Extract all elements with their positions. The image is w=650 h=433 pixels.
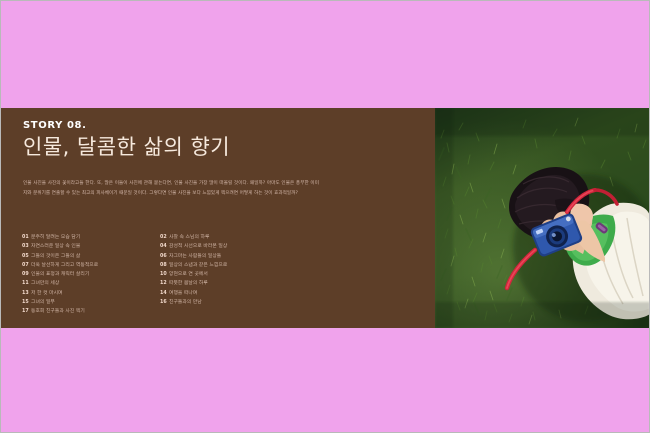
list-item-number: 08 xyxy=(160,263,169,268)
list-item-number: 06 xyxy=(160,254,169,259)
page-root: STORY 08. 인물, 달콤한 삶의 향기 인물 사진을 사진의 꽃이라고들… xyxy=(0,0,650,433)
list-item-number: 14 xyxy=(160,291,169,296)
contents-list: 01 분주히 달려는 모습 담기 03 자연스러운 일상 속 인물 05 그들의… xyxy=(22,233,322,317)
list-item[interactable]: 09 인물의 표정과 캐릭터 살리기 xyxy=(22,270,142,279)
list-item[interactable]: 06 자그마는 사람들의 일상들 xyxy=(160,252,280,261)
intro-paragraph: 인물 사진을 사진의 꽃이라고들 한다. 또, 많은 이들이 사진에 관해 묻는… xyxy=(23,179,319,198)
list-item[interactable]: 15 그녀의 일부 xyxy=(22,298,142,307)
list-item-number: 10 xyxy=(160,272,169,277)
list-item[interactable]: 05 그들의 것이은 그들의 삶 xyxy=(22,252,142,261)
story-label: STORY 08. xyxy=(23,120,87,132)
list-item[interactable]: 07 더욱 날선하게 그리고 역동적으로 xyxy=(22,261,142,270)
list-item-label: 친구들과의 만남 xyxy=(169,298,202,305)
list-item[interactable]: 04 감성적 시선으로 바라본 일상 xyxy=(160,242,280,251)
list-item-label: 자연스러운 일상 속 인물 xyxy=(31,242,80,249)
list-item-number: 17 xyxy=(22,309,31,314)
list-item[interactable]: 11 그녀만의 세상 xyxy=(22,279,142,288)
list-item-number: 12 xyxy=(160,281,169,286)
list-item[interactable]: 14 여행을 떠나며 xyxy=(160,289,280,298)
photo-illustration xyxy=(435,108,650,328)
list-item-label: 동호회 친구들과 사진 찍기 xyxy=(31,307,85,314)
list-item-label: 인물의 표정과 캐릭터 살리기 xyxy=(31,270,89,277)
list-item-number: 05 xyxy=(22,254,31,259)
list-item-label: 사찰 속 스님의 하루 xyxy=(169,233,209,240)
list-item-number: 11 xyxy=(22,281,31,286)
list-item-label: 일상의 스냅과 같은 느낌으로 xyxy=(169,261,227,268)
list-item-label: 저 한 컷 마시며 xyxy=(31,289,63,296)
list-item[interactable]: 16 친구들과의 만남 xyxy=(160,298,280,307)
contents-column-right: 02 사찰 속 스님의 하루 04 감성적 시선으로 바라본 일상 06 자그마… xyxy=(160,233,280,317)
list-item[interactable]: 03 자연스러운 일상 속 인물 xyxy=(22,242,142,251)
list-item[interactable]: 01 분주히 달려는 모습 담기 xyxy=(22,233,142,242)
story-photo xyxy=(435,108,650,328)
list-item-number: 02 xyxy=(160,235,169,240)
list-item-number: 07 xyxy=(22,263,31,268)
list-item[interactable]: 13 저 한 컷 마시며 xyxy=(22,289,142,298)
list-item-label: 자그마는 사람들의 일상들 xyxy=(169,252,221,259)
list-item[interactable]: 12 따뜻한 봄날의 하루 xyxy=(160,279,280,288)
list-item-number: 03 xyxy=(22,244,31,249)
list-item-label: 그녀의 일부 xyxy=(31,298,55,305)
list-item-number: 15 xyxy=(22,300,31,305)
list-item[interactable]: 17 동호회 친구들과 사진 찍기 xyxy=(22,307,142,316)
list-item[interactable]: 08 일상의 스냅과 같은 느낌으로 xyxy=(160,261,280,270)
list-item-label: 따뜻한 봄날의 하루 xyxy=(169,279,208,286)
list-item-label: 더욱 날선하게 그리고 역동적으로 xyxy=(31,261,98,268)
list-item-label: 그들의 것이은 그들의 삶 xyxy=(31,252,80,259)
list-item-number: 09 xyxy=(22,272,31,277)
list-item-label: 앙현으로 연 곳에서 xyxy=(169,270,208,277)
page-title: 인물, 달콤한 삶의 향기 xyxy=(23,133,230,161)
list-item-number: 01 xyxy=(22,235,31,240)
list-item[interactable]: 10 앙현으로 연 곳에서 xyxy=(160,270,280,279)
list-item-label: 감성적 시선으로 바라본 일상 xyxy=(169,242,227,249)
contents-column-left: 01 분주히 달려는 모습 담기 03 자연스러운 일상 속 인물 05 그들의… xyxy=(22,233,142,317)
list-item[interactable]: 02 사찰 속 스님의 하루 xyxy=(160,233,280,242)
list-item-number: 04 xyxy=(160,244,169,249)
list-item-number: 13 xyxy=(22,291,31,296)
list-item-label: 그녀만의 세상 xyxy=(31,279,59,286)
list-item-label: 여행을 떠나며 xyxy=(169,289,197,296)
list-item-number: 16 xyxy=(160,300,169,305)
list-item-label: 분주히 달려는 모습 담기 xyxy=(31,233,80,240)
